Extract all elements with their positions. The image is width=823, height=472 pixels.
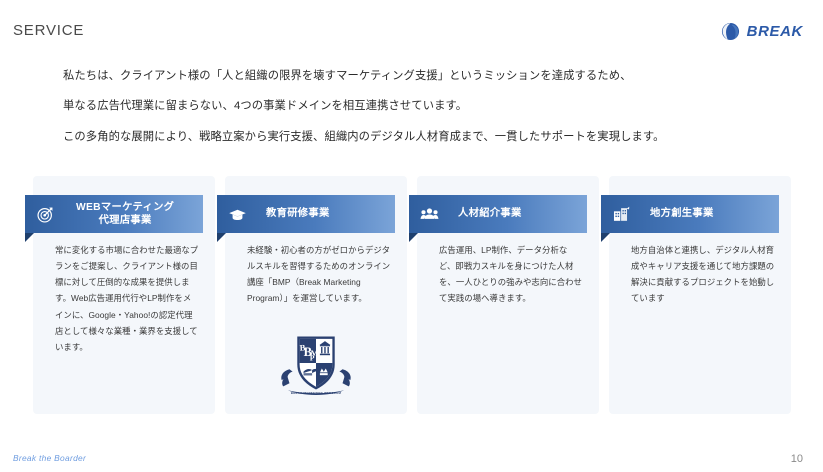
card-ribbon: 人材紹介事業	[409, 195, 587, 233]
svg-text:B: B	[299, 342, 306, 352]
service-card-web-marketing[interactable]: WEBマーケティング 代理店事業 常に変化する市場に合わせた最適なプランをご提案…	[33, 176, 215, 414]
card-body: 地方自治体と連携し、デジタル人材育成やキャリア支援を通じて地方課題の解決に貢献す…	[631, 242, 775, 307]
people-group-icon	[420, 205, 439, 224]
card-title: WEBマーケティング 代理店事業	[64, 201, 174, 227]
card-body-text: 常に変化する市場に合わせた最適なプランをご提案し、クライアント様の目標に対して圧…	[55, 242, 199, 355]
slide-header: SERVICE BREAK	[0, 0, 823, 58]
brand-logo: BREAK	[721, 22, 803, 41]
card-body: 常に変化する市場に合わせた最適なプランをご提案し、クライアント様の目標に対して圧…	[55, 242, 199, 355]
card-body-text: 未経験・初心者の方がゼロからデジタルスキルを習得するためのオンライン講座「BMP…	[247, 242, 391, 307]
card-body-text: 広告運用、LP制作、データ分析など、即戦力スキルを身につけた人材を、一人ひとりの…	[439, 242, 583, 307]
card-title: 人材紹介事業	[448, 207, 522, 220]
svg-text:P: P	[310, 354, 315, 363]
card-body: 広告運用、LP制作、データ分析など、即戦力スキルを身につけた人材を、一人ひとりの…	[439, 242, 583, 307]
bmp-crest-emblem: B B M P	[277, 324, 355, 402]
page-number: 10	[791, 453, 803, 465]
ribbon-fold	[601, 233, 610, 242]
service-card-recruitment[interactable]: 人材紹介事業 広告運用、LP制作、データ分析など、即戦力スキルを身につけた人材を…	[417, 176, 599, 414]
card-ribbon: WEBマーケティング 代理店事業	[25, 195, 203, 233]
bmp-crest-holder: B B M P	[225, 324, 407, 402]
service-cards-row: WEBマーケティング 代理店事業 常に変化する市場に合わせた最適なプランをご提案…	[33, 176, 793, 416]
break-globe-icon	[721, 22, 740, 41]
svg-text:BREAK MARKETING PROGRAM: BREAK MARKETING PROGRAM	[291, 391, 342, 395]
page-title: SERVICE	[13, 22, 84, 39]
brand-name: BREAK	[747, 23, 803, 40]
card-title: 教育研修事業	[256, 207, 330, 220]
service-card-education[interactable]: 教育研修事業 未経験・初心者の方がゼロからデジタルスキルを習得するためのオンライ…	[225, 176, 407, 414]
lead-line-1: 私たちは、クライアント様の「人と組織の限界を壊すマーケティング支援」というミッシ…	[63, 68, 773, 84]
city-building-icon	[612, 205, 631, 224]
ribbon-fold	[217, 233, 226, 242]
graduation-cap-icon	[228, 205, 247, 224]
card-title-line-2: 代理店事業	[76, 214, 174, 227]
ribbon-fold	[25, 233, 34, 242]
ribbon-fold	[409, 233, 418, 242]
service-card-regional[interactable]: 地方創生事業 地方自治体と連携し、デジタル人材育成やキャリア支援を通じて地方課題…	[609, 176, 791, 414]
lead-paragraph: 私たちは、クライアント様の「人と組織の限界を壊すマーケティング支援」というミッシ…	[63, 68, 773, 159]
slide-footer: Break the Boarder 10	[0, 442, 823, 472]
card-body-text: 地方自治体と連携し、デジタル人材育成やキャリア支援を通じて地方課題の解決に貢献す…	[631, 242, 775, 307]
card-ribbon: 地方創生事業	[601, 195, 779, 233]
target-icon	[36, 205, 55, 224]
lead-line-2: 単なる広告代理業に留まらない、4つの事業ドメインを相互連携させています。	[63, 98, 773, 114]
card-title-line-1: WEBマーケティング	[76, 201, 174, 214]
footer-tagline: Break the Boarder	[13, 453, 86, 463]
card-body: 未経験・初心者の方がゼロからデジタルスキルを習得するためのオンライン講座「BMP…	[247, 242, 391, 307]
card-title: 地方創生事業	[640, 207, 714, 220]
card-ribbon: 教育研修事業	[217, 195, 395, 233]
lead-line-3: この多角的な展開により、戦略立案から実行支援、組織内のデジタル人材育成まで、一貫…	[63, 129, 773, 145]
